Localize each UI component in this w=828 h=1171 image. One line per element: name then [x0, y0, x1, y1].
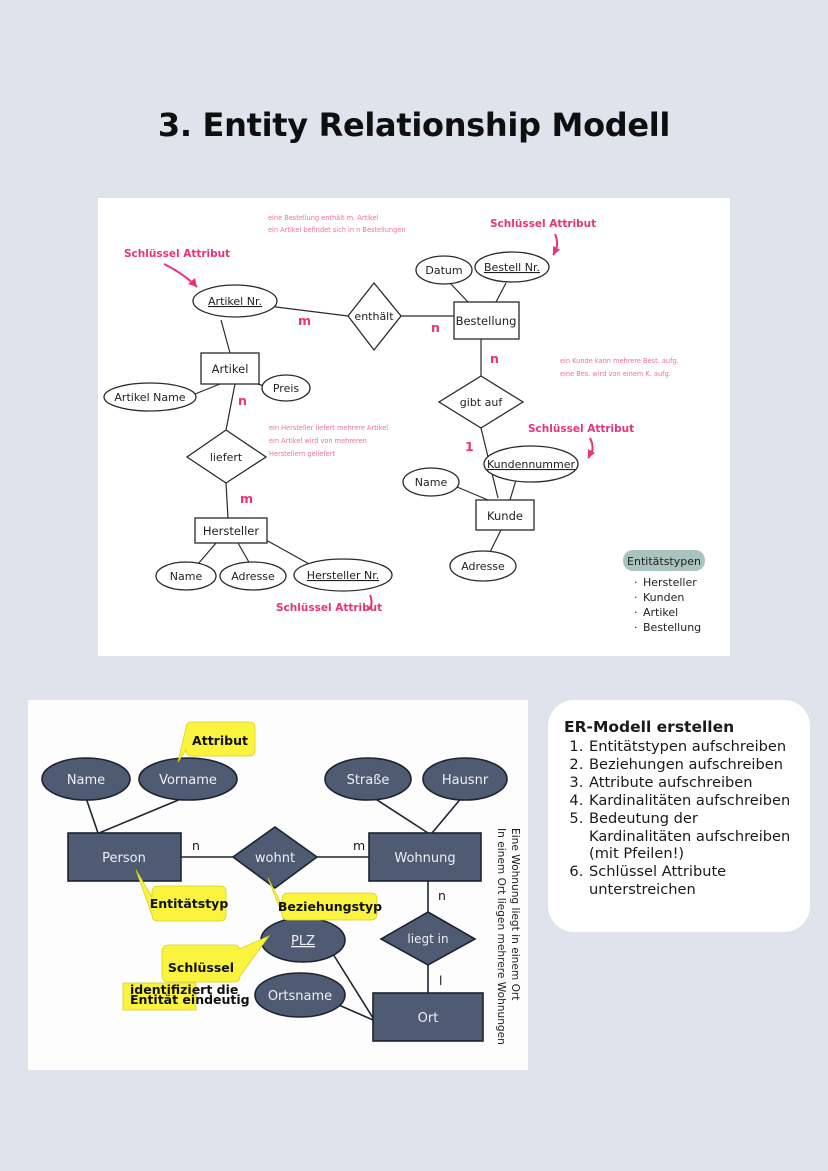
attribute-label: Adresse — [461, 560, 505, 573]
legend-bullet: · — [634, 576, 638, 589]
relationship-liegt-in: liegt in — [381, 912, 475, 965]
entity-label: Hersteller — [203, 524, 259, 538]
side-note-line: Eine Wohnung liegt in einem Ort — [509, 828, 521, 1000]
note-line: eine Bestellung enthält m. Artikel — [268, 214, 379, 222]
side-note-wohnung-ort: Eine Wohnung liegt in einem Ort In einem… — [495, 828, 521, 1045]
attribute-strasse: Straße — [325, 758, 411, 800]
note-liefert: ein Hersteller liefert mehrere Artikel e… — [269, 424, 388, 458]
callout-label: Beziehungstyp — [278, 899, 382, 914]
steps-list-item: Schlüssel Attribute unterstreichen — [588, 863, 794, 898]
cardinality-label: n — [238, 393, 247, 408]
attribute-label: Ortsname — [268, 989, 332, 1004]
relationship-gibt-auf: gibt auf — [439, 376, 523, 428]
page-title: 3. Entity Relationship Modell — [0, 106, 828, 144]
attribute-label: Preis — [273, 382, 300, 395]
cardinality-wohnung-liegtin: n — [438, 888, 446, 903]
cardinality-liegtin-ort: l — [439, 973, 442, 988]
attribute-label: Artikel Name — [114, 391, 185, 404]
attribute-label: Name — [415, 476, 448, 489]
attribute-kunde-name: Name — [403, 468, 459, 496]
legend-title: Entitätstypen — [627, 555, 701, 568]
callout-label: Entitätstyp — [150, 896, 229, 911]
attribute-preis: Preis — [262, 375, 310, 401]
attribute-artikel-name: Artikel Name — [104, 383, 196, 411]
relationship-enthaelt: enthält — [348, 283, 401, 350]
note-line: ein Artikel befindet sich in n Bestellun… — [268, 226, 406, 234]
steps-list-item: Attribute aufschreiben — [588, 774, 794, 792]
legend-entitaetstypen: Entitätstypen · Hersteller · Kunden · Ar… — [623, 550, 705, 634]
relationship-label: wohnt — [255, 851, 295, 866]
legend-item: Artikel — [643, 606, 678, 619]
attribute-plz: PLZ — [261, 918, 345, 962]
handwritten-diagram-panel: .ln{stroke:#2a2a2a;stroke-width:1.2;fill… — [98, 198, 730, 656]
entity-ort: Ort — [373, 993, 483, 1041]
attribute-kunde-adresse: Adresse — [450, 551, 516, 581]
er-diagram: .ent{fill:#4e5b73;stroke:#1d2430;stroke-… — [28, 700, 528, 1070]
annotation-schluessel-attribut-2: Schlüssel Attribut — [490, 218, 596, 255]
note-line: Entität eindeutig — [130, 992, 250, 1007]
legend-bullet: · — [634, 591, 638, 604]
steps-list-item: Entitätstypen aufschreiben — [588, 738, 794, 756]
cardinality-label: m — [240, 491, 253, 506]
legend-item: Hersteller — [643, 576, 697, 589]
steps-list-item: Beziehungen aufschreiben — [588, 756, 794, 774]
note-enthaelt: eine Bestellung enthält m. Artikel ein A… — [268, 214, 406, 234]
legend-bullet: · — [634, 621, 638, 634]
attribute-label: Bestell Nr. — [484, 261, 540, 274]
relationship-wohnt: wohnt — [233, 827, 317, 888]
entity-label: Wohnung — [394, 851, 455, 866]
entity-person: Person — [68, 833, 181, 881]
entity-label: Bestellung — [456, 314, 517, 328]
attribute-label: Adresse — [231, 570, 275, 583]
attribute-hersteller-name: Name — [156, 562, 216, 590]
attribute-label: Hersteller Nr. — [307, 569, 380, 582]
callout-schluessel: Schlüssel — [162, 936, 269, 982]
annotation-label: Schlüssel Attribut — [490, 218, 596, 230]
entity-artikel: Artikel — [201, 353, 259, 384]
attribute-ortsname: Ortsname — [255, 973, 345, 1017]
cardinality-label: n — [490, 351, 499, 366]
attribute-datum: Datum — [416, 256, 472, 284]
relationship-label: liegt in — [407, 932, 448, 946]
note-line: ein Kunde kann mehrere Best. aufg. — [560, 357, 679, 365]
annotation-label: Schlüssel Attribut — [276, 602, 382, 614]
relationship-label: enthält — [354, 310, 394, 323]
annotation-schluessel-attribut-3: Schlüssel Attribut — [276, 595, 382, 614]
annotation-schluessel-attribut-1: Schlüssel Attribut — [124, 248, 230, 287]
entity-label: Person — [102, 851, 146, 866]
annotation-label: Schlüssel Attribut — [124, 248, 230, 260]
steps-list: Entitätstypen aufschreiben Beziehungen a… — [564, 738, 794, 898]
attribute-label: Kundennummer — [487, 458, 575, 471]
entity-wohnung: Wohnung — [369, 833, 481, 881]
relationship-label: liefert — [210, 451, 243, 464]
annotation-label: Schlüssel Attribut — [528, 423, 634, 435]
entity-label: Kunde — [487, 509, 523, 523]
er-diagram-panel: .ent{fill:#4e5b73;stroke:#1d2430;stroke-… — [28, 700, 528, 1070]
steps-list-item: Bedeutung der Kardinalitäten aufschreibe… — [588, 810, 794, 863]
legend-bullet: · — [634, 606, 638, 619]
note-line: ein Hersteller liefert mehrere Artikel — [269, 424, 388, 432]
callout-label: Attribut — [192, 733, 248, 748]
relationship-label: gibt auf — [460, 396, 504, 409]
attribute-label: PLZ — [291, 934, 315, 949]
steps-card: ER-Modell erstellen Entitätstypen aufsch… — [548, 700, 810, 932]
legend-item: Bestellung — [643, 621, 701, 634]
entity-bestellung: Bestellung — [454, 302, 519, 339]
note-line: eine Bes. wird von einem K. aufg. — [560, 370, 671, 378]
attribute-label: Hausnr — [442, 773, 489, 788]
cardinality-wohnt-wohnung: m — [353, 838, 365, 853]
callout-beziehungstyp: Beziehungstyp — [268, 878, 382, 920]
note-line: Herstellern geliefert — [269, 450, 335, 458]
attribute-bestell-nr: Bestell Nr. — [475, 252, 549, 282]
callout-attribut: Attribut — [178, 722, 255, 762]
attribute-hersteller-nr: Hersteller Nr. — [294, 559, 392, 591]
cardinality-label: m — [298, 313, 311, 328]
note-gibt-auf: ein Kunde kann mehrere Best. aufg. eine … — [560, 357, 679, 378]
attribute-vorname: Vorname — [139, 758, 237, 800]
attribute-label: Name — [67, 773, 105, 788]
steps-list-item: Kardinalitäten aufschreiben — [588, 792, 794, 810]
attribute-kundennummer: Kundennummer — [484, 446, 578, 482]
legend-item: Kunden — [643, 591, 684, 604]
relationship-liefert: liefert — [187, 430, 266, 483]
attribute-artikel-nr: Artikel Nr. — [193, 285, 277, 317]
callout-label: Schlüssel — [168, 960, 234, 975]
attribute-label: Name — [170, 570, 203, 583]
attribute-hersteller-adresse: Adresse — [220, 562, 286, 590]
entity-label: Artikel — [212, 362, 249, 376]
note-box-identifiziert: identifiziert die Entität eindeutig — [123, 982, 250, 1010]
side-note-line: In einem Ort liegen mehrere Wohnungen — [495, 828, 507, 1045]
entity-label: Ort — [418, 1011, 439, 1026]
cardinality-person-wohnt: n — [192, 838, 200, 853]
attribute-label: Artikel Nr. — [208, 295, 262, 308]
entity-kunde: Kunde — [476, 500, 534, 530]
attribute-label: Straße — [347, 773, 390, 788]
attribute-name: Name — [42, 758, 130, 800]
entity-hersteller: Hersteller — [195, 518, 267, 543]
attribute-hausnr: Hausnr — [423, 758, 507, 800]
attribute-label: Vorname — [159, 773, 217, 788]
steps-card-heading: ER-Modell erstellen — [564, 718, 794, 736]
cardinality-label: n — [431, 320, 440, 335]
attribute-label: Datum — [425, 264, 462, 277]
cardinality-label: 1 — [465, 439, 474, 454]
note-line: ein Artikel wird von mehreren — [269, 437, 367, 445]
handwritten-er-diagram: .ln{stroke:#2a2a2a;stroke-width:1.2;fill… — [98, 198, 730, 656]
